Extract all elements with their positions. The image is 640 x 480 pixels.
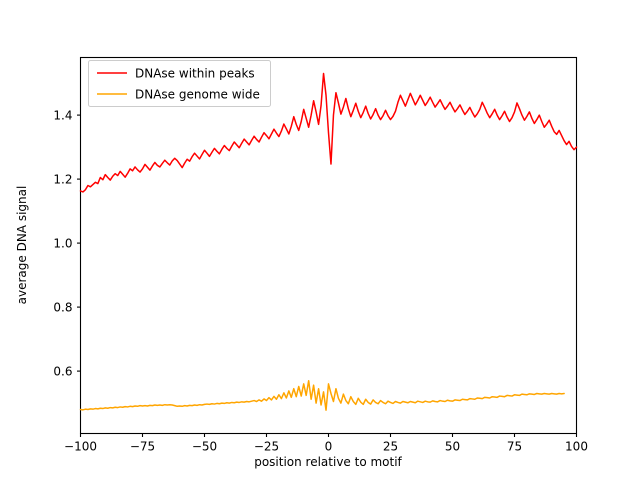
y-axis-label: average DNA signal — [15, 186, 29, 305]
y-tick-label: 1.0 — [53, 236, 72, 250]
y-tick-label: 0.6 — [53, 364, 72, 378]
x-tick-label: 0 — [325, 440, 333, 454]
x-tick-label: 25 — [383, 440, 398, 454]
axes-frame — [81, 58, 577, 434]
y-axis-ticks: 0.60.81.01.21.4 — [53, 108, 80, 378]
x-tick-label: −100 — [64, 440, 97, 454]
legend-label-1: DNAse genome wide — [135, 88, 260, 102]
figure-canvas: −100−75−50−250255075100 0.60.81.01.21.4 … — [0, 0, 640, 480]
chart-plot: −100−75−50−250255075100 0.60.81.01.21.4 … — [0, 0, 640, 480]
x-axis-ticks: −100−75−50−250255075100 — [64, 434, 588, 454]
x-tick-label: −25 — [254, 440, 279, 454]
x-tick-label: −75 — [130, 440, 155, 454]
y-tick-label: 0.8 — [53, 300, 72, 314]
y-tick-label: 1.2 — [53, 172, 72, 186]
series-line-1 — [81, 381, 565, 410]
x-tick-label: 50 — [445, 440, 460, 454]
x-tick-label: 100 — [565, 440, 588, 454]
legend[interactable]: DNAse within peaks DNAse genome wide — [89, 61, 271, 107]
x-axis-label: position relative to motif — [254, 455, 402, 469]
x-tick-label: 75 — [507, 440, 522, 454]
data-series-group — [81, 74, 577, 411]
x-tick-label: −50 — [192, 440, 217, 454]
y-tick-label: 1.4 — [53, 108, 72, 122]
legend-label-0: DNAse within peaks — [135, 67, 255, 81]
